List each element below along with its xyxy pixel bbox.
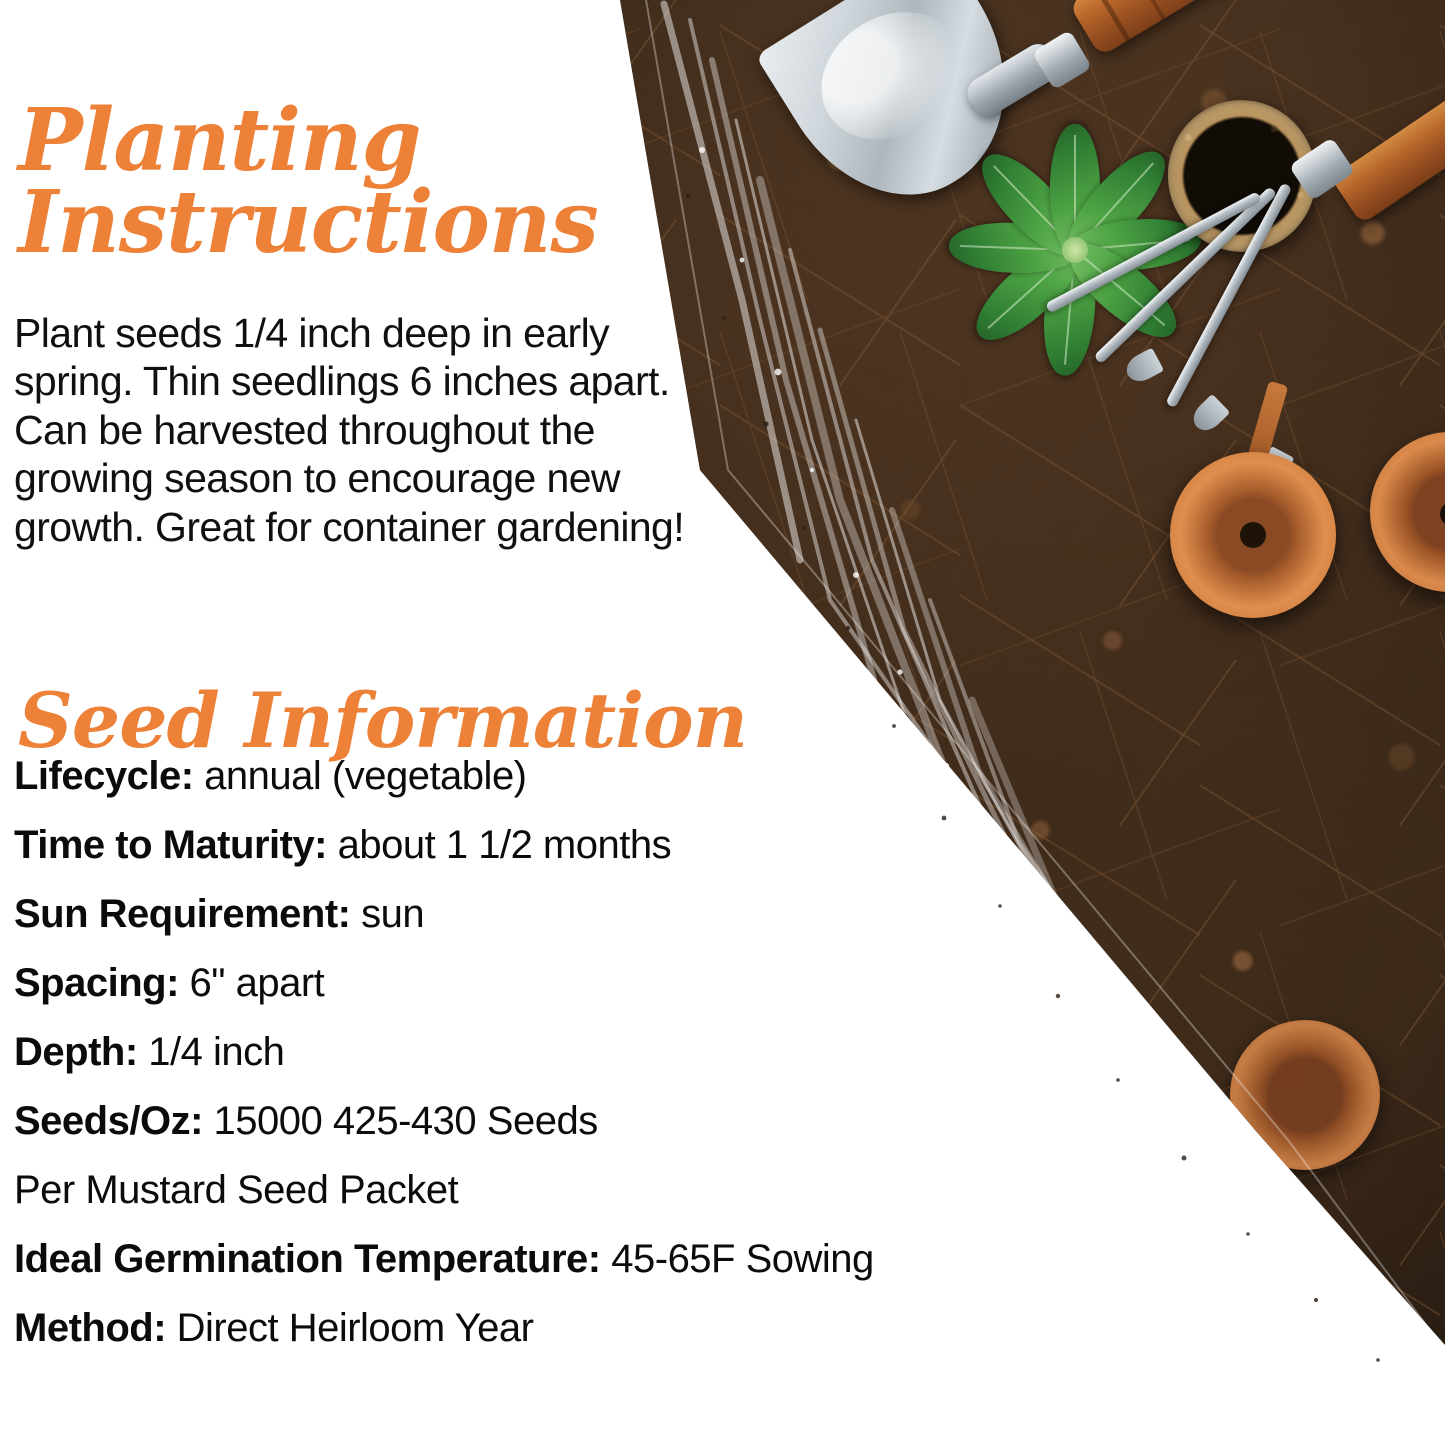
seed-info-value: about 1 1/2 months xyxy=(338,823,671,867)
seed-info-label: Seeds/Oz: xyxy=(14,1099,203,1143)
seed-info-row: Sun Requirement: sun xyxy=(14,880,1114,949)
seed-info-label: Depth: xyxy=(14,1030,138,1074)
terracotta-pot-bottom xyxy=(1230,1020,1380,1170)
seed-info-label: Method: xyxy=(14,1306,166,1350)
seed-info-value: 45-65F Sowing xyxy=(611,1237,874,1281)
planting-instructions-body: Plant seeds 1/4 inch deep in early sprin… xyxy=(14,309,728,551)
seed-info-label: Ideal Germination Temperature: xyxy=(14,1237,601,1281)
seed-information-list: Lifecycle: annual (vegetable)Time to Mat… xyxy=(14,742,1114,1363)
seed-info-label: Sun Requirement: xyxy=(14,892,350,936)
seed-info-row: Depth: 1/4 inch xyxy=(14,1018,1114,1087)
seed-info-label: Lifecycle: xyxy=(14,754,194,798)
seed-info-value: sun xyxy=(361,892,424,936)
terracotta-pot-left xyxy=(1170,452,1336,618)
seed-info-value: 1/4 inch xyxy=(148,1030,284,1074)
seed-info-value: Direct Heirloom Year xyxy=(177,1306,534,1350)
seed-packet-info-page: Planting Instructions Plant seeds 1/4 in… xyxy=(0,0,1445,1456)
seed-info-row: Ideal Germination Temperature: 45-65F So… xyxy=(14,1225,1114,1294)
seed-info-value: annual (vegetable) xyxy=(204,754,526,798)
seed-info-label: Spacing: xyxy=(14,961,179,1005)
seed-info-row: Lifecycle: annual (vegetable) xyxy=(14,742,1114,811)
leaf-rosette-center xyxy=(1062,237,1088,263)
seed-info-row: Time to Maturity: about 1 1/2 months xyxy=(14,811,1114,880)
seed-info-row: Per Mustard Seed Packet xyxy=(14,1156,1114,1225)
seed-info-row: Method: Direct Heirloom Year xyxy=(14,1294,1114,1363)
seed-info-row: Spacing: 6" apart xyxy=(14,949,1114,1018)
seed-info-label: Time to Maturity: xyxy=(14,823,327,867)
seed-info-row: Seeds/Oz: 15000 425-430 Seeds xyxy=(14,1087,1114,1156)
seed-info-value: 6" apart xyxy=(190,961,325,1005)
planting-instructions-heading: Planting Instructions xyxy=(18,100,598,265)
seed-info-value: Per Mustard Seed Packet xyxy=(14,1168,458,1212)
seed-info-value: 15000 425-430 Seeds xyxy=(214,1099,598,1143)
